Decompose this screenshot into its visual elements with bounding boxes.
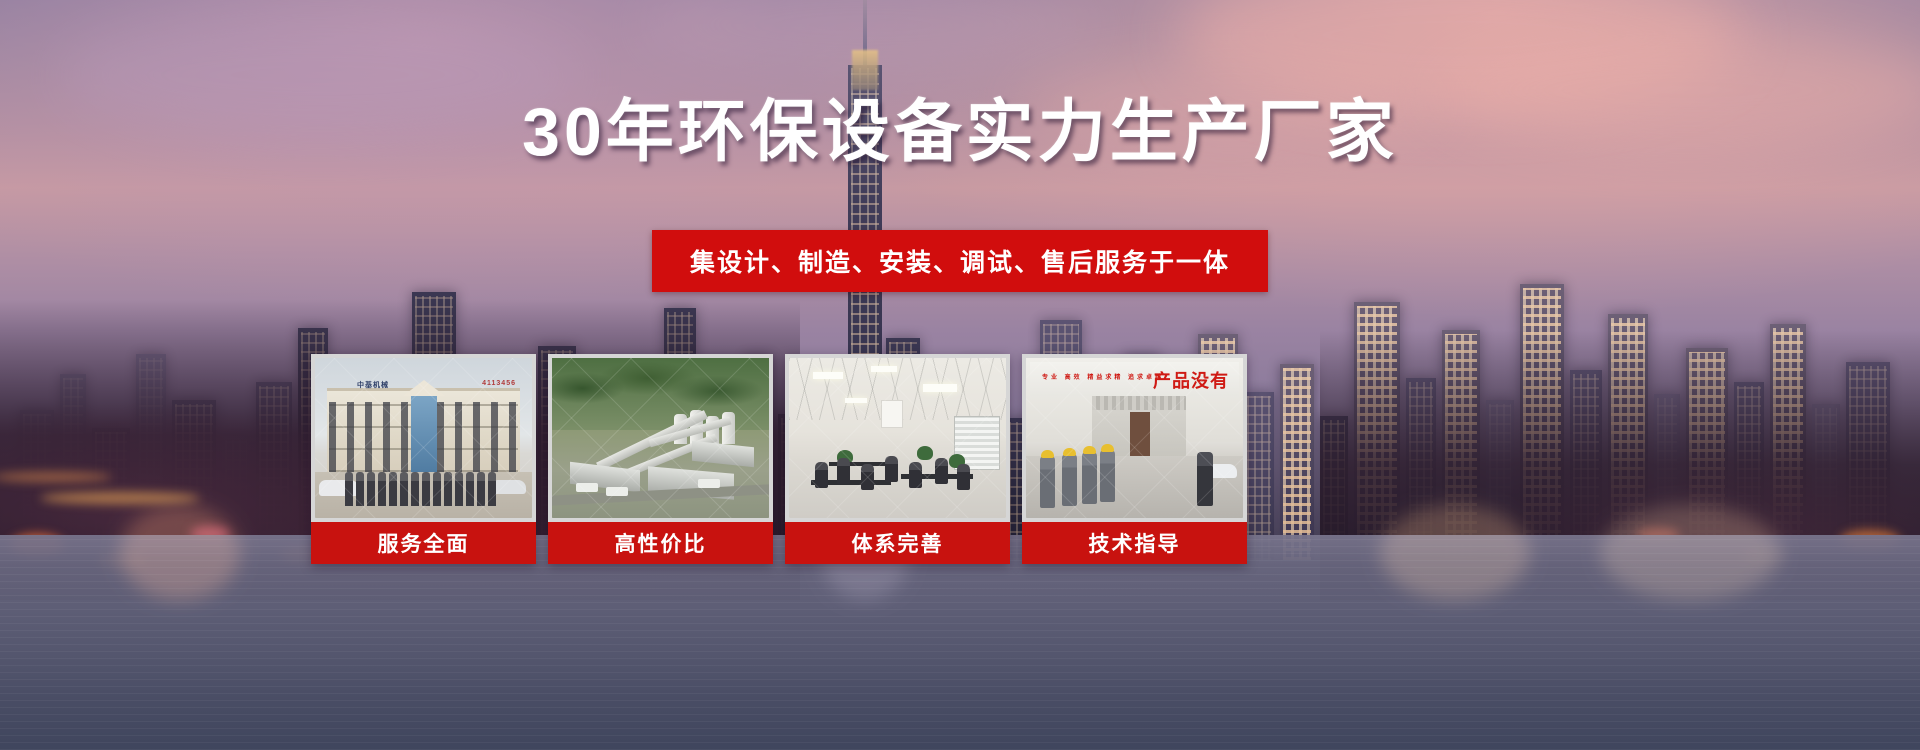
building-company-sign: 中基机械 [357, 380, 389, 390]
card-caption: 服务全面 [311, 522, 536, 564]
card-photo-factory-workers: 专业 高效 精益求精 追求卓越 产品没有 [1026, 358, 1243, 518]
building-phone-number: 4113456 [482, 380, 516, 387]
hero-banner: 30年环保设备实力生产厂家 集设计、制造、安装、调试、售后服务于一体 中基机械 … [0, 0, 1920, 750]
supervisor-figure [1197, 452, 1213, 506]
wall-banner-small-text: 专业 高效 精益求精 追求卓越 [1042, 372, 1164, 381]
wall-banner-large-text: 产品没有 [1153, 367, 1229, 393]
feature-card-system[interactable]: 体系完善 [785, 354, 1010, 564]
feature-card-row: 中基机械 4113456 服务全面 [311, 354, 1247, 564]
river-water [0, 535, 1920, 750]
tower-crown-light [852, 50, 878, 90]
subtitle-banner: 集设计、制造、安装、调试、售后服务于一体 [652, 230, 1268, 292]
feature-card-value[interactable]: 高性价比 [548, 354, 773, 564]
wall-poster [881, 400, 903, 428]
card-photo-office-building: 中基机械 4113456 [315, 358, 532, 518]
card-photo-aerial-plant [552, 358, 769, 518]
page-title: 30年环保设备实力生产厂家 [0, 98, 1920, 166]
card-caption: 体系完善 [785, 522, 1010, 564]
card-caption: 高性价比 [548, 522, 773, 564]
staff-lineup [345, 472, 505, 506]
feature-card-technical[interactable]: 专业 高效 精益求精 追求卓越 产品没有 技术指导 [1022, 354, 1247, 564]
card-photo-office-interior [789, 358, 1006, 518]
factory-wall-banner: 专业 高效 精益求精 追求卓越 产品没有 [1030, 362, 1239, 396]
card-caption: 技术指导 [1022, 522, 1247, 564]
feature-card-service[interactable]: 中基机械 4113456 服务全面 [311, 354, 536, 564]
